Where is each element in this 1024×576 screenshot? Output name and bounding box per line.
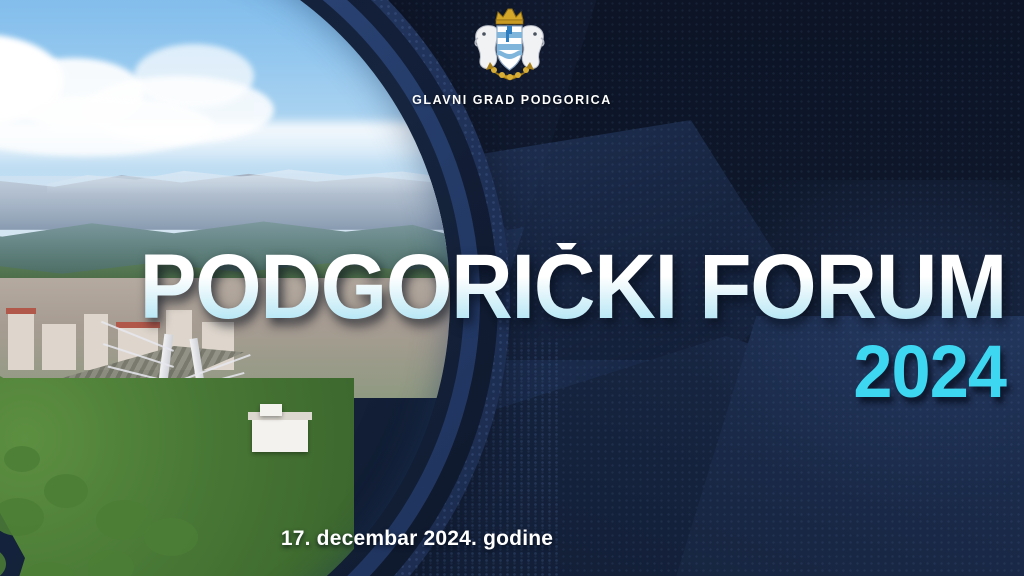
event-banner: GLAVNI GRAD PODGORICA PODGORIČKI FORUM 2… [0,0,1024,576]
headline-block: PODGORIČKI FORUM 2024 [0,243,1024,409]
event-year: 2024 [50,335,1006,409]
event-date: 17. decembar 2024. godine [0,527,1024,551]
city-logo[interactable]: GLAVNI GRAD PODGORICA [0,6,1024,107]
city-logo-label: GLAVNI GRAD PODGORICA [412,93,612,107]
podgorica-coat-of-arms-icon [464,6,560,84]
event-title: PODGORIČKI FORUM [70,243,1006,331]
